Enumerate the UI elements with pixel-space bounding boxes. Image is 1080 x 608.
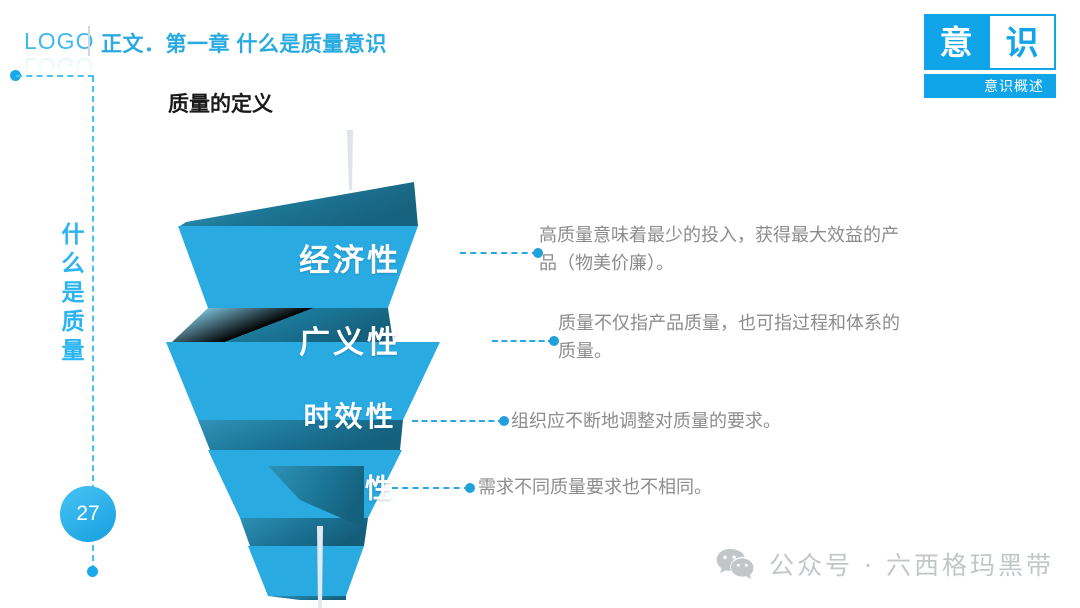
description-3: 组织应不断地调整对质量的要求。 [511, 408, 911, 436]
description-1: 高质量意味着最少的投入，获得最大效益的产品（物美价廉）。 [539, 222, 911, 278]
connector-dot-4 [465, 483, 475, 493]
funnel-top-ribbon [180, 182, 418, 226]
footer-watermark: 公众号 · 六西格玛黑带 [715, 546, 1054, 582]
chapter-badge: 意 识 意识概述 [924, 14, 1056, 98]
connector-line-3 [412, 420, 504, 422]
wechat-icon [715, 547, 755, 581]
funnel-label-1: 经济性 [220, 235, 480, 280]
rail-bottom-dot [87, 566, 98, 577]
connector-dot-3 [499, 416, 509, 426]
badge-subtitle: 意识概述 [924, 74, 1056, 98]
badge-char-hollow: 识 [988, 14, 1056, 70]
description-2: 质量不仅指产品质量，也可指过程和体系的质量。 [558, 310, 906, 366]
connector-line-2 [492, 340, 554, 342]
funnel-bottom-tail [268, 466, 364, 528]
funnel-label-2: 广义性 [220, 317, 480, 362]
funnel-label-3: 时效性 [230, 395, 470, 435]
connector-line-1 [460, 252, 538, 254]
rail-top-connector [16, 75, 94, 77]
watermark-text: 公众号 · 六西格玛黑带 [769, 546, 1054, 582]
page-title: 正文．第一章 什么是质量意识 [101, 28, 387, 58]
badge-characters: 意 识 [924, 14, 1056, 70]
section-heading: 质量的定义 [168, 88, 273, 118]
description-4: 需求不同质量要求也不相同。 [478, 474, 898, 502]
slide-canvas: LOGO LOGO 正文．第一章 什么是质量意识 意 识 意识概述 什么是质量 … [0, 0, 1080, 608]
funnel-bottom-stem [317, 526, 323, 608]
logo: LOGO [24, 28, 94, 55]
badge-char-filled: 意 [924, 14, 988, 70]
funnel-top-stem [347, 130, 353, 190]
header-divider [88, 26, 90, 56]
page-number-badge: 27 [60, 486, 116, 542]
connector-line-4 [392, 487, 470, 489]
sidebar-vertical-label: 什么是质量 [52, 222, 82, 367]
